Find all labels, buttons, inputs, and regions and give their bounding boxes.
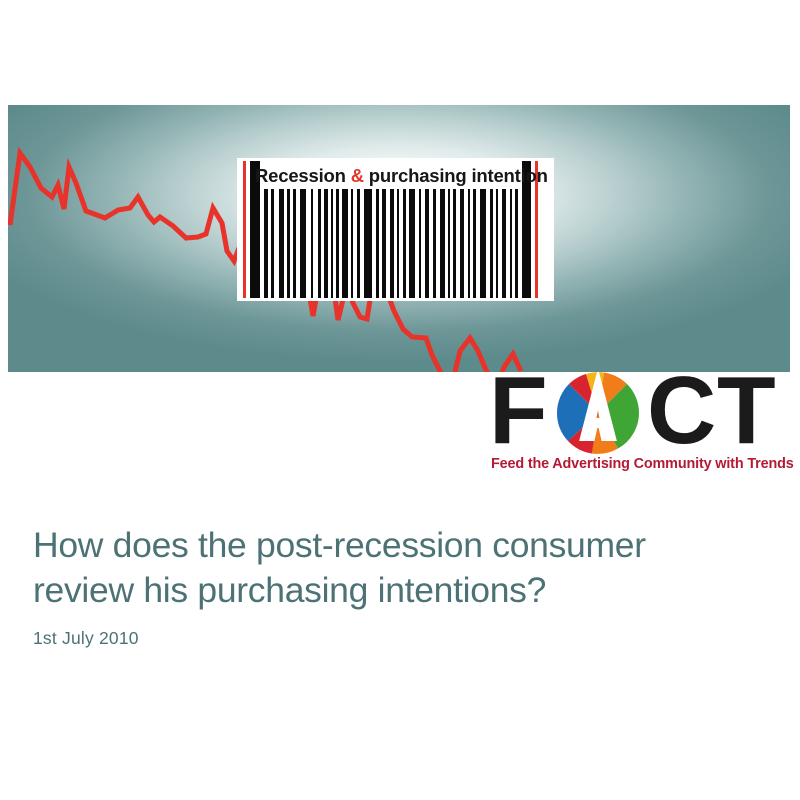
barcode-bar [364, 189, 372, 298]
barcode-bar [453, 189, 456, 298]
fact-wordmark: F C T [489, 368, 794, 454]
barcode-bar [468, 189, 470, 298]
fact-letter-f: F [489, 368, 545, 454]
page-title-line-2: review his purchasing intentions? [33, 570, 546, 610]
barcode-bar [382, 189, 386, 298]
fact-letter-a-mark [552, 372, 644, 454]
barcode-bar [460, 189, 464, 298]
barcode-title: Recession & purchasing intention [255, 162, 537, 190]
barcode-bar [490, 189, 493, 298]
barcode-bar [496, 189, 498, 298]
title-block: How does the post-recession consumer rev… [33, 523, 763, 613]
barcode-bar [425, 189, 429, 298]
fact-logo: F C T Fe [489, 368, 794, 478]
barcode-bar [279, 189, 284, 298]
barcode-bar [397, 189, 399, 298]
barcode-title-prefix: Recession [255, 165, 351, 186]
barcode-bar [390, 189, 394, 298]
barcode-bar [357, 189, 360, 298]
barcode-bar [311, 189, 313, 298]
barcode-bar [318, 189, 321, 298]
fact-tagline: Feed the Advertising Community with Tren… [491, 456, 794, 472]
barcode-bar [403, 189, 406, 298]
barcode-bar [264, 189, 268, 298]
barcode-bar [502, 189, 506, 298]
barcode-bar [300, 189, 306, 298]
barcode-bar [440, 189, 445, 298]
barcode-bar [351, 189, 353, 298]
barcode-bar [448, 189, 450, 298]
barcode-title-ampersand: & [351, 165, 364, 186]
page-date: 1st July 2010 [33, 628, 139, 649]
barcode-bar [287, 189, 290, 298]
barcode-graphic: Recession & purchasing intention [237, 158, 554, 301]
barcode-bar [331, 189, 333, 298]
barcode-bar [480, 189, 486, 298]
page-title: How does the post-recession consumer rev… [33, 523, 763, 613]
barcode-bar [515, 189, 518, 298]
page-title-line-1: How does the post-recession consumer [33, 525, 646, 565]
barcode-bar [243, 161, 246, 298]
banner-line-left [10, 153, 251, 261]
barcode-bar [336, 189, 339, 298]
barcode-bar [433, 189, 436, 298]
barcode-title-suffix: purchasing intention [364, 165, 548, 186]
barcode-bar [419, 189, 421, 298]
fact-a-pie-icon [552, 372, 644, 454]
fact-letter-c: C [647, 368, 713, 454]
barcode-bar [510, 189, 512, 298]
barcode-bar [342, 189, 348, 298]
fact-letter-t: T [717, 368, 773, 454]
barcode-bar [409, 189, 415, 298]
barcode-bar [271, 189, 274, 298]
barcode-bar [473, 189, 476, 298]
barcode-bar [293, 189, 296, 298]
barcode-bar [376, 189, 379, 298]
barcode-bar [324, 189, 328, 298]
